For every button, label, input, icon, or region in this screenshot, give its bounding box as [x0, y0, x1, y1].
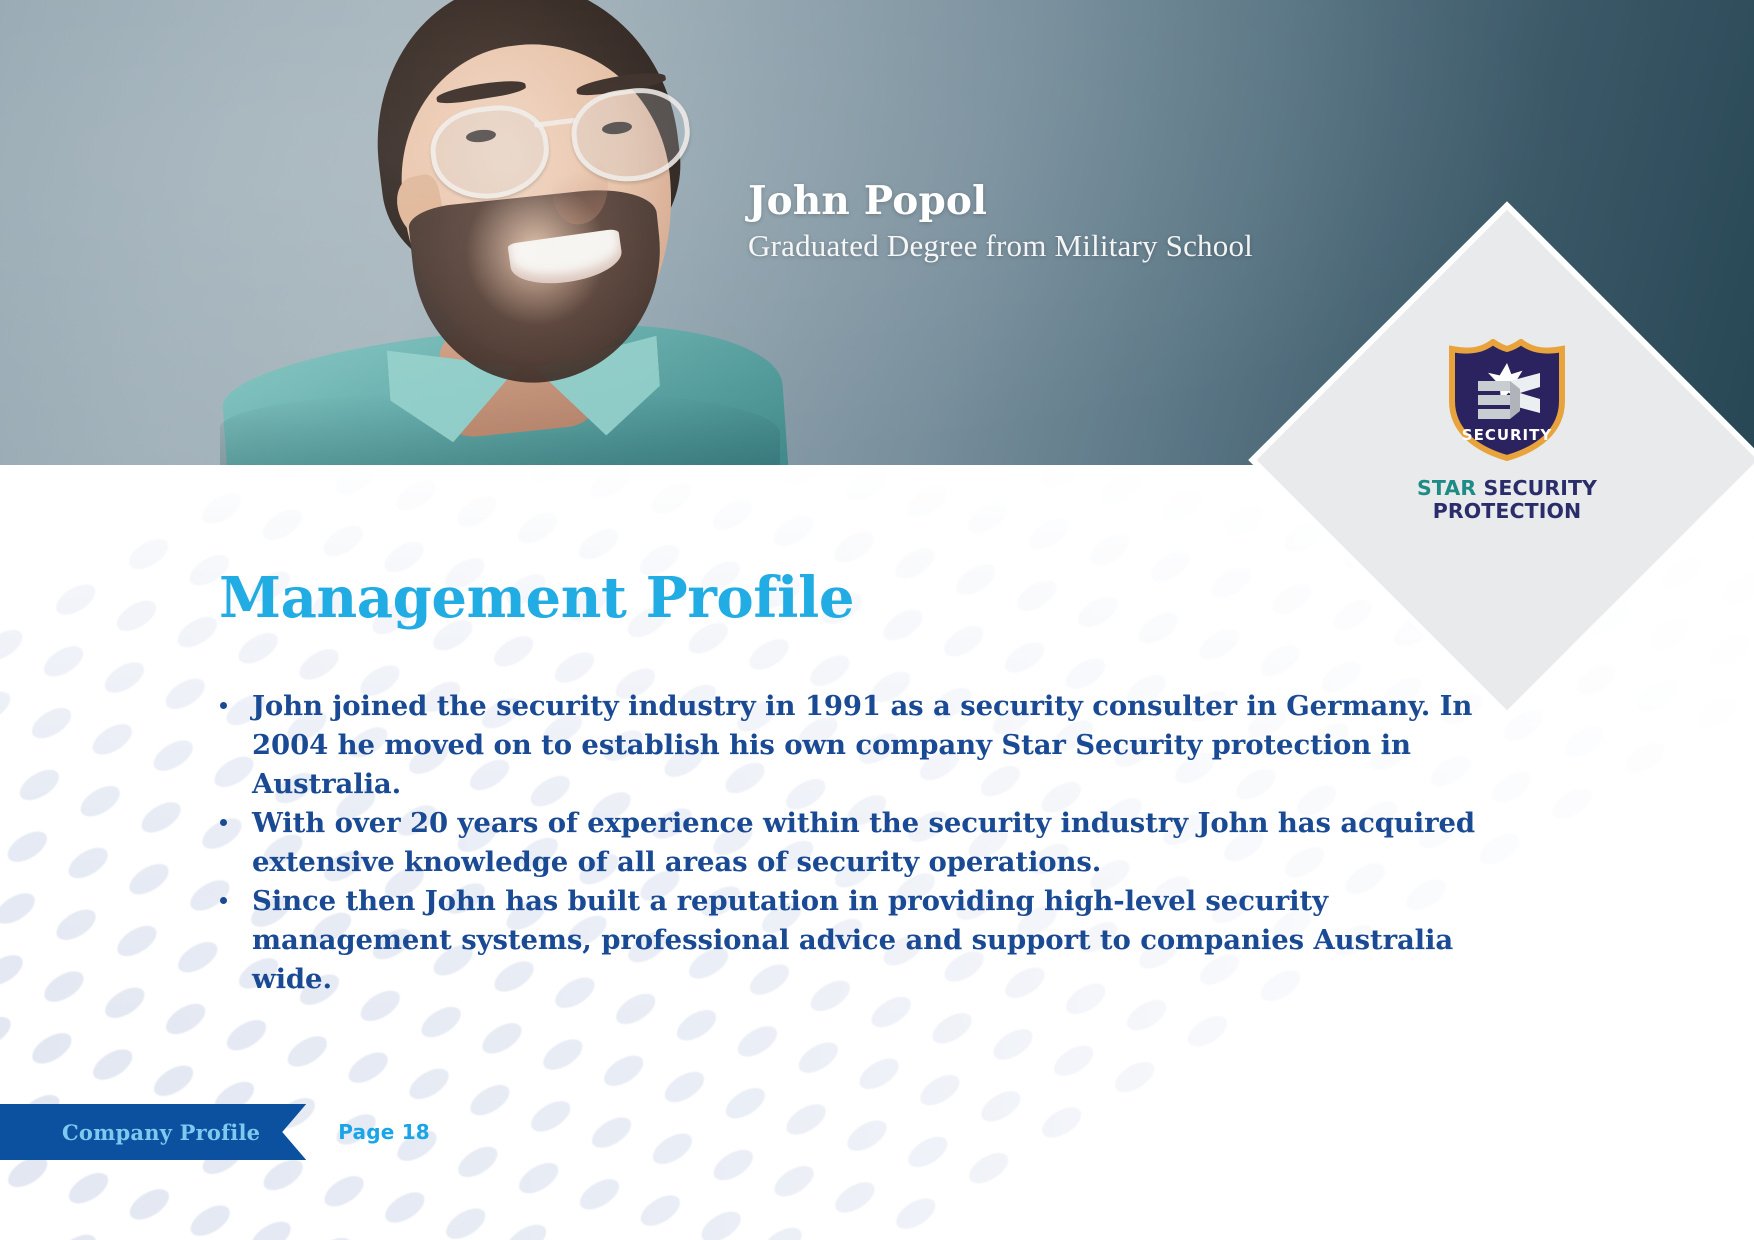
- bullet-dot-icon: [220, 819, 227, 826]
- list-item-text: John joined the security industry in 199…: [252, 690, 1472, 800]
- list-item: With over 20 years of experience within …: [214, 804, 1524, 882]
- list-item: Since then John has built a reputation i…: [214, 882, 1524, 999]
- person-illustration: [180, 0, 800, 465]
- footer-bar: Company Profile: [0, 1104, 306, 1160]
- list-item-text: Since then John has built a reputation i…: [252, 885, 1453, 995]
- glasses-bridge: [534, 118, 576, 128]
- logo-inner: SECURITY STAR SECURITY PROTECTION: [1330, 283, 1684, 637]
- person-name: John Popol: [748, 182, 1253, 221]
- person-subtitle: Graduated Degree from Military School: [748, 230, 1253, 263]
- logo-wordmark: STAR SECURITY PROTECTION: [1417, 477, 1597, 523]
- slide-root: John Popol Graduated Degree from Militar…: [0, 0, 1754, 1240]
- shield-icon: SECURITY: [1448, 339, 1566, 461]
- profile-bullet-list: John joined the security industry in 199…: [214, 687, 1524, 999]
- footer-company-label: Company Profile: [62, 1120, 260, 1145]
- bullet-dot-icon: [220, 897, 227, 904]
- footer-page-number: Page 18: [338, 1120, 430, 1144]
- page-title: Management Profile: [219, 570, 854, 626]
- footer-ribbon: Company Profile Page 18: [0, 1104, 430, 1160]
- logo-badge: SECURITY STAR SECURITY PROTECTION: [1330, 283, 1684, 637]
- logo-word-security: SECURITY: [1483, 476, 1597, 500]
- logo-word-protection: PROTECTION: [1417, 500, 1597, 523]
- hero-caption: John Popol Graduated Degree from Militar…: [748, 182, 1253, 263]
- logo-word-star: STAR: [1417, 476, 1476, 500]
- list-item: John joined the security industry in 199…: [214, 687, 1524, 804]
- svg-text:SECURITY: SECURITY: [1462, 426, 1553, 444]
- logo-wordmark-line1: STAR SECURITY: [1417, 477, 1597, 500]
- list-item-text: With over 20 years of experience within …: [252, 807, 1475, 878]
- bullet-dot-icon: [220, 702, 227, 709]
